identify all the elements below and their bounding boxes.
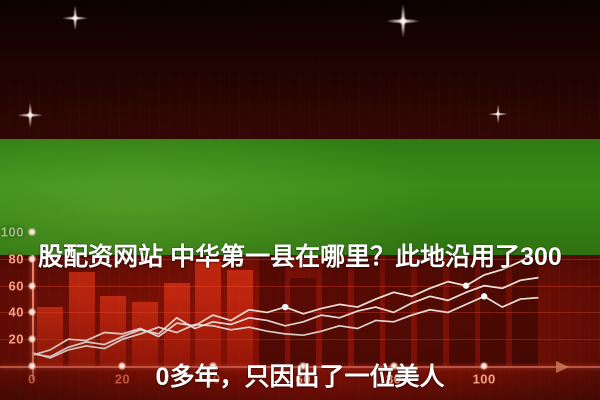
headline-line-2: 0多年，只因出了一位美人	[8, 357, 592, 397]
headline-line-1: 股配资网站 中华第一县在哪里？此地沿用了300	[8, 237, 592, 277]
page-title: 股配资网站 中华第一县在哪里？此地沿用了300 0多年，只因出了一位美人	[0, 157, 600, 400]
stock-chart-banner: 02040608010020406080100 股配资网站 中华第一县在哪里？此…	[0, 0, 600, 400]
